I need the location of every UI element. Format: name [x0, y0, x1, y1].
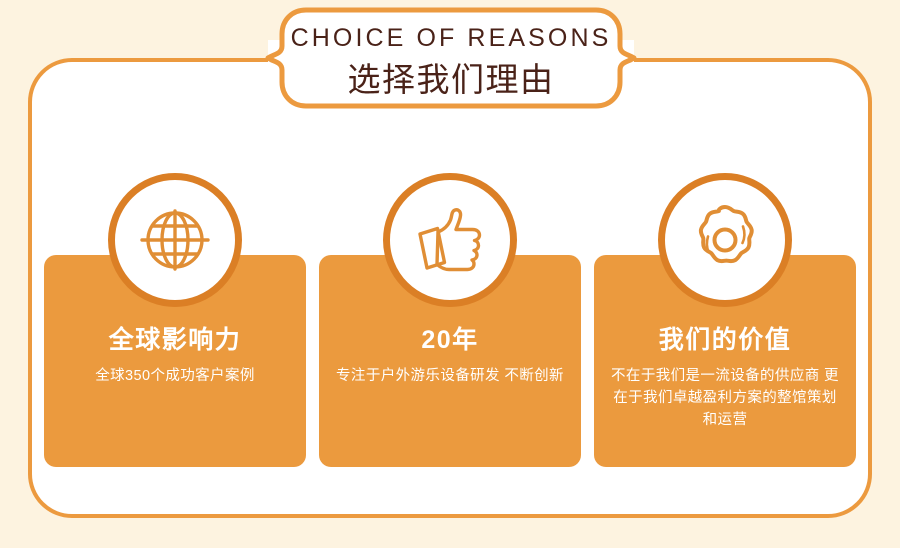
gear-icon	[687, 202, 763, 278]
feature-card-title: 20年	[319, 327, 581, 355]
feature-card-title: 我们的价值	[594, 327, 856, 355]
gear-icon-badge	[658, 173, 792, 307]
globe-icon	[138, 203, 212, 277]
feature-card-twenty-years[interactable]: 20年 专注于户外游乐设备研发 不断创新	[319, 255, 581, 467]
feature-card-desc: 不在于我们是一流设备的供应商 更在于我们卓越盈利方案的整馆策划和运营	[609, 365, 841, 432]
ribbon-shape	[268, 10, 634, 106]
feature-card-desc: 全球350个成功客户案例	[59, 365, 291, 387]
globe-icon-badge	[108, 173, 242, 307]
promo-section: CHOICE OF REASONS 选择我们理由 全球影响力	[0, 0, 900, 548]
thumbs-up-icon-badge	[383, 173, 517, 307]
feature-card-title: 全球影响力	[44, 327, 306, 355]
feature-card-global-influence[interactable]: 全球影响力 全球350个成功客户案例	[44, 255, 306, 467]
feature-card-list: 全球影响力 全球350个成功客户案例 20年 专注于户外游乐设备研发 不断创新	[44, 255, 856, 467]
thumbs-up-icon	[412, 204, 488, 276]
feature-card-desc: 专注于户外游乐设备研发 不断创新	[334, 365, 566, 387]
feature-card-our-value[interactable]: 我们的价值 不在于我们是一流设备的供应商 更在于我们卓越盈利方案的整馆策划和运营	[594, 255, 856, 467]
section-header-ribbon: CHOICE OF REASONS 选择我们理由	[262, 2, 640, 114]
